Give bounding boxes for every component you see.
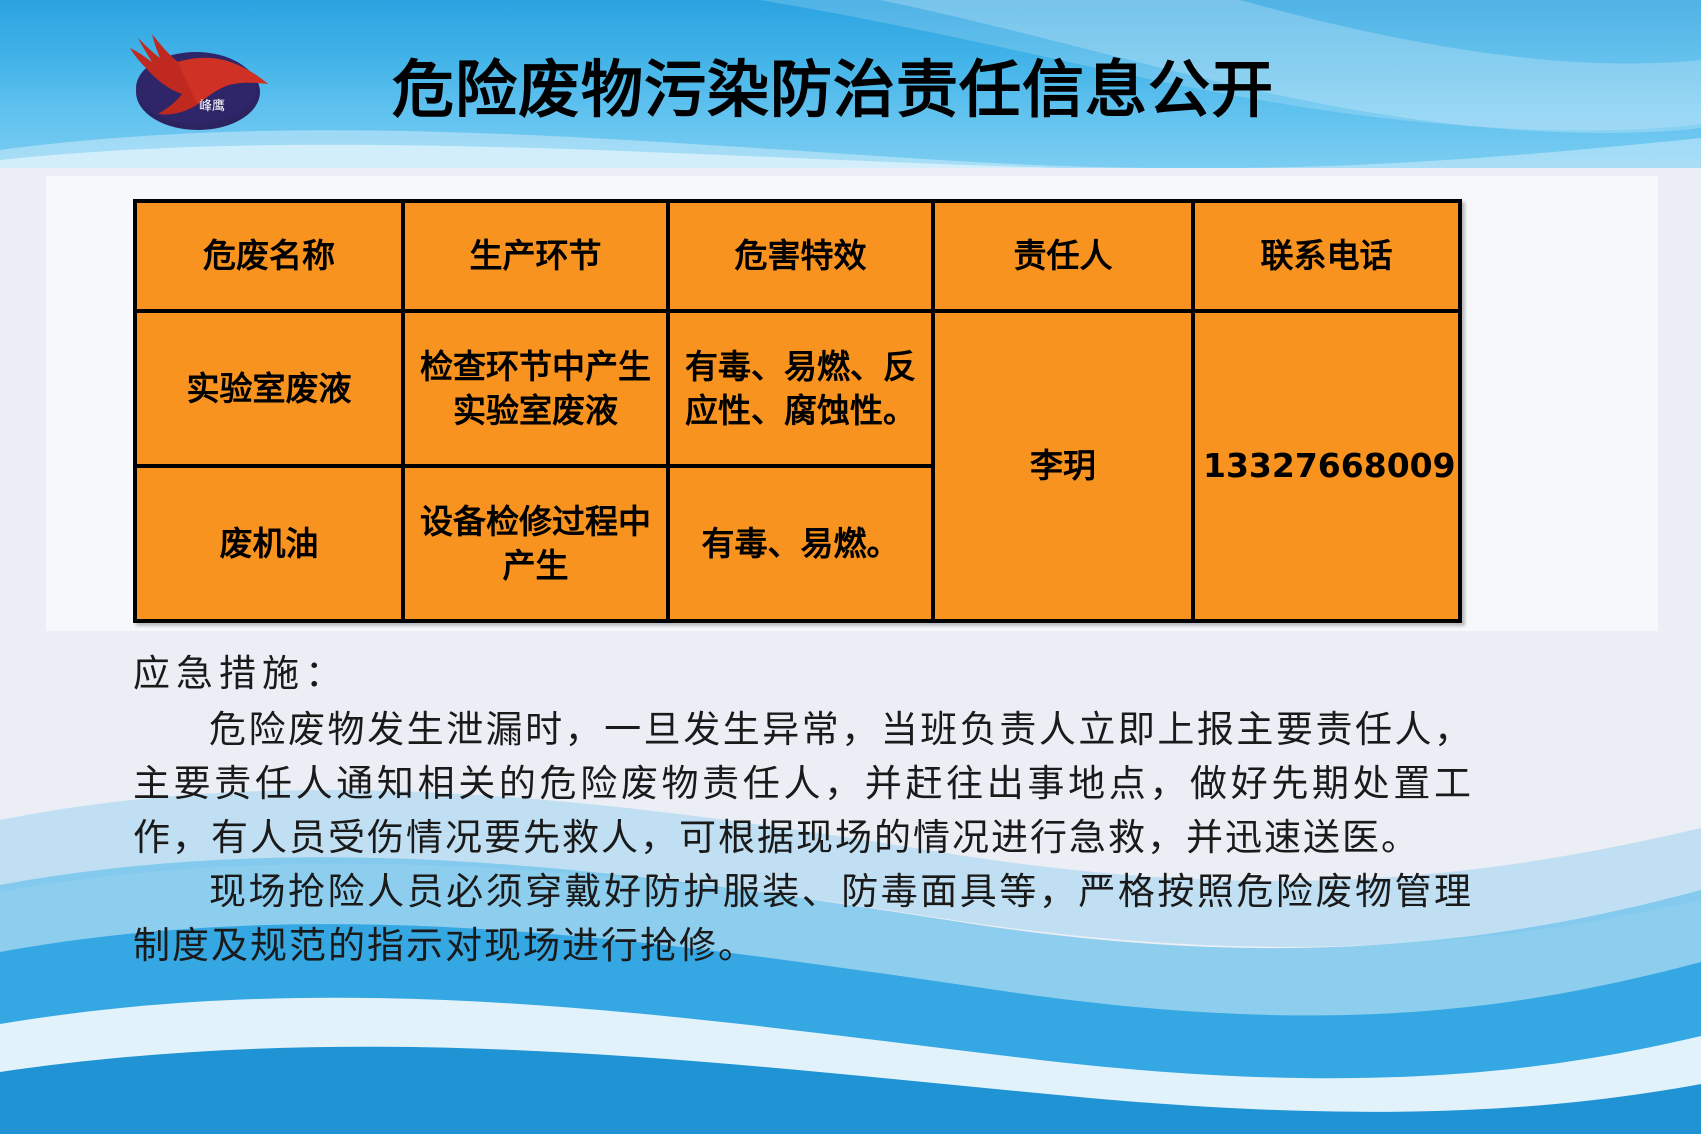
cell-hazard-2: 有毒、易燃。: [668, 466, 933, 621]
column-header-phone: 联系电话: [1193, 201, 1460, 311]
svg-text:峰鹰: 峰鹰: [199, 98, 225, 114]
poster-root: 峰鹰 危险废物污染防治责任信息公开 危废名称 生产环节 危害特效 责任人 联系电…: [0, 0, 1701, 1134]
cell-contact-phone: 13327668009: [1193, 311, 1460, 621]
cell-waste-name-2: 废机油: [135, 466, 403, 621]
column-header-hazard: 危害特效: [668, 201, 933, 311]
cell-hazard-1: 有毒、易燃、反应性、腐蚀性。: [668, 311, 933, 466]
eagle-emblem-logo: 峰鹰: [112, 20, 282, 138]
table-row: 实验室废液 检查环节中产生实验室废液 有毒、易燃、反应性、腐蚀性。 李玥 133…: [135, 311, 1460, 466]
column-header-waste-name: 危废名称: [135, 201, 403, 311]
emergency-measures-section: 应急措施： 危险废物发生泄漏时，一旦发生异常，当班负责人立即上报主要责任人，主要…: [133, 648, 1473, 974]
header-band: 峰鹰 危险废物污染防治责任信息公开: [0, 0, 1701, 168]
cell-production-1: 检查环节中产生实验室废液: [403, 311, 668, 466]
page-title: 危险废物污染防治责任信息公开: [392, 54, 1274, 126]
emergency-measures-heading: 应急措施：: [133, 648, 1473, 702]
column-header-production: 生产环节: [403, 201, 668, 311]
table-header-row: 危废名称 生产环节 危害特效 责任人 联系电话: [135, 201, 1460, 311]
column-header-responsible: 责任人: [933, 201, 1193, 311]
hazardous-waste-table: 危废名称 生产环节 危害特效 责任人 联系电话 实验室废液 检查环节中产生实验室…: [133, 199, 1462, 623]
cell-waste-name-1: 实验室废液: [135, 311, 403, 466]
emergency-measures-paragraph-1: 危险废物发生泄漏时，一旦发生异常，当班负责人立即上报主要责任人，主要责任人通知相…: [133, 704, 1473, 866]
cell-responsible-person: 李玥: [933, 311, 1193, 621]
cell-production-2: 设备检修过程中产生: [403, 466, 668, 621]
emergency-measures-paragraph-2: 现场抢险人员必须穿戴好防护服装、防毒面具等，严格按照危险废物管理制度及规范的指示…: [133, 866, 1473, 974]
